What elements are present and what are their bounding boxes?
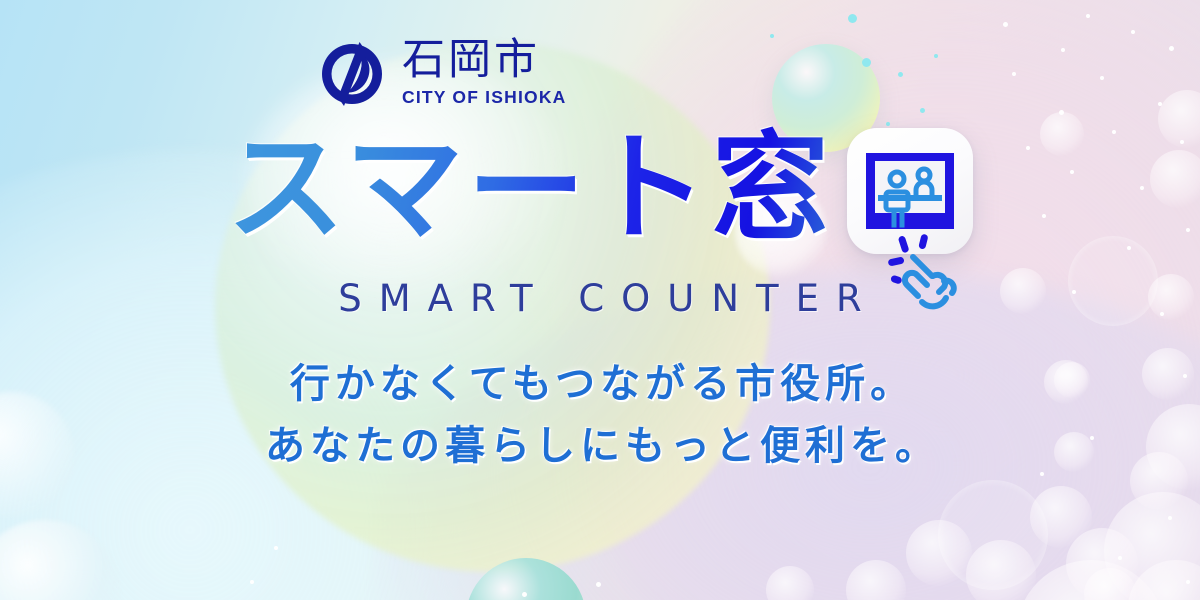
city-logo-lockup: 石岡市 CITY OF ISHIOKA (316, 36, 567, 110)
city-name-en: CITY OF ISHIOKA (402, 87, 567, 107)
ishioka-city-emblem-icon (316, 38, 388, 110)
hero-title-row: スマート窓 (0, 122, 1200, 254)
hero-banner: 石岡市 CITY OF ISHIOKA スマート窓 (0, 0, 1200, 600)
hero-subtitle-en: SMART COUNTER (0, 276, 1200, 322)
tagline-line-2: あなたの暮らしにもっと便利を。 (0, 420, 1200, 472)
tagline-line-1: 行かなくてもつながる市役所。 (0, 358, 1200, 410)
city-name-jp: 石岡市 (402, 36, 567, 86)
hero-title-jp: スマート窓 (227, 124, 833, 252)
